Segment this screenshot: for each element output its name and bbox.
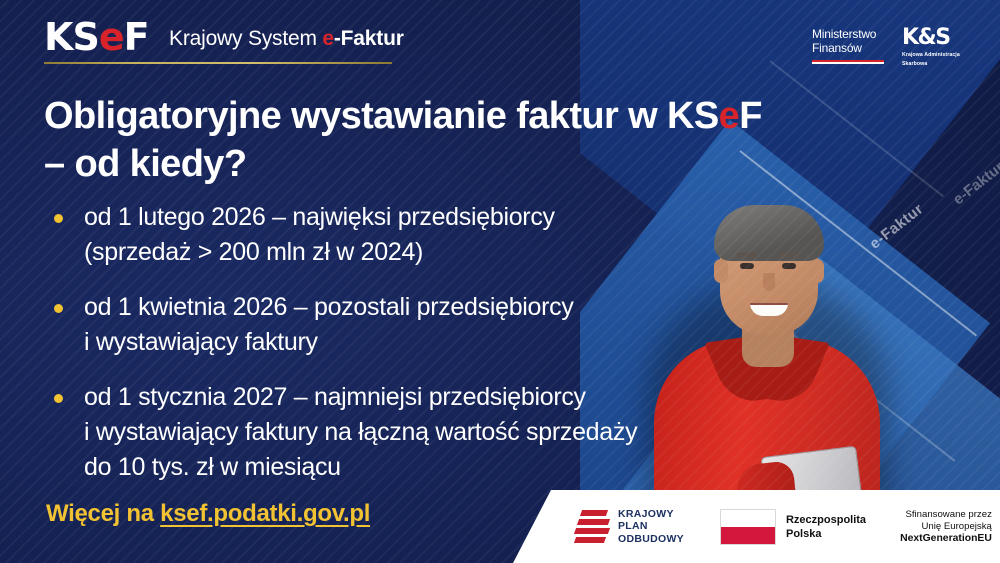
ksef-logo-f: F bbox=[124, 15, 149, 59]
eu-line1: Sfinansowane przez bbox=[900, 509, 992, 521]
watermark-e-faktur-secondary: e-Faktur bbox=[950, 159, 1000, 209]
bullet-dot-icon bbox=[54, 214, 63, 223]
eu-line2: Unię Europejską bbox=[900, 521, 992, 533]
ministry-of-finance-logo: Ministerstwo Finansów bbox=[812, 27, 884, 64]
list-item: od 1 stycznia 2027 – najmniejsi przedsię… bbox=[44, 380, 744, 485]
kpo-line3: ODBUDOWY bbox=[618, 533, 684, 546]
ksef-website-link[interactable]: ksef.podatki.gov.pl bbox=[160, 500, 370, 527]
person-brow-right bbox=[779, 253, 799, 257]
person-ear-right bbox=[810, 259, 824, 283]
eu-line3: NextGenerationEU bbox=[900, 533, 992, 545]
kpo-mark-icon bbox=[575, 508, 609, 546]
ksef-logo-ks: KS bbox=[44, 15, 99, 59]
cta-line: Więcej na ksef.podatki.gov.pl bbox=[46, 500, 370, 528]
headline-part2: F bbox=[739, 95, 762, 137]
bullet-line: od 1 kwietnia 2026 – pozostali przedsięb… bbox=[84, 293, 574, 321]
rp-line2: Polska bbox=[786, 527, 866, 541]
kpo-line2: PLAN bbox=[618, 520, 684, 533]
eu-funding-logo: Sfinansowane przez Unię Europejską NextG… bbox=[900, 508, 1000, 545]
ksef-logo: KSeF bbox=[44, 18, 149, 56]
bullet-line: od 1 lutego 2026 – najwięksi przedsiębio… bbox=[84, 203, 555, 231]
mf-red-bar bbox=[812, 60, 884, 64]
list-item: od 1 lutego 2026 – najwięksi przedsiębio… bbox=[44, 200, 744, 270]
headline-line2: – od kiedy? bbox=[44, 143, 246, 185]
page-title: Obligatoryjne wystawianie faktur w KSeF–… bbox=[44, 92, 874, 188]
headline-accent-e: e bbox=[719, 95, 740, 137]
poster-root: e-Faktur e-Faktur KSeF Krajowy System e-… bbox=[0, 0, 1000, 563]
rp-line1: Rzeczpospolita bbox=[786, 513, 866, 527]
kas-label-line2: Skarbowa bbox=[902, 61, 980, 67]
brand-tagline: Krajowy System e-Faktur bbox=[169, 27, 404, 51]
tagline-part1: Krajowy System bbox=[169, 27, 322, 50]
republic-of-poland-logo: Rzeczpospolita Polska bbox=[720, 509, 866, 545]
poland-flag-icon bbox=[720, 509, 776, 545]
headline-part1: Obligatoryjne wystawianie faktur w KS bbox=[44, 95, 719, 137]
bullet-dot-icon bbox=[54, 394, 63, 403]
bullet-line: (sprzedaż > 200 mln zł w 2024) bbox=[84, 238, 423, 266]
kas-logo: K&S Krajowa Administracja Skarbowa bbox=[902, 27, 980, 68]
kpo-logo: KRAJOWY PLAN ODBUDOWY bbox=[575, 508, 684, 546]
kpo-label: KRAJOWY PLAN ODBUDOWY bbox=[618, 508, 684, 546]
brand-divider bbox=[44, 62, 392, 64]
bullet-list: od 1 lutego 2026 – najwięksi przedsiębio… bbox=[44, 200, 744, 505]
rp-label: Rzeczpospolita Polska bbox=[786, 513, 866, 541]
eu-label: Sfinansowane przez Unię Europejską NextG… bbox=[900, 509, 992, 545]
cta-prefix: Więcej na bbox=[46, 500, 160, 527]
kpo-line1: KRAJOWY bbox=[618, 508, 684, 521]
bullet-line: i wystawiający faktury bbox=[84, 328, 318, 356]
tagline-accent-e: e bbox=[322, 27, 333, 50]
kas-label-line1: Krajowa Administracja bbox=[902, 52, 980, 58]
list-item: od 1 kwietnia 2026 – pozostali przedsięb… bbox=[44, 290, 744, 360]
mf-line1: Ministerstwo bbox=[812, 27, 884, 41]
brand-header: KSeF Krajowy System e-Faktur bbox=[44, 18, 404, 56]
person-eye-right bbox=[782, 263, 796, 269]
person-nose bbox=[763, 273, 775, 291]
ksef-logo-e: e bbox=[99, 15, 124, 59]
bullet-dot-icon bbox=[54, 304, 63, 313]
kas-monogram: K&S bbox=[902, 27, 980, 49]
mf-line2: Finansów bbox=[812, 41, 884, 55]
bullet-line: do 10 tys. zł w miesiącu bbox=[84, 453, 341, 481]
footer-bar: KRAJOWY PLAN ODBUDOWY Rzeczpospolita Pol… bbox=[513, 490, 1000, 563]
bullet-line: i wystawiający faktury na łączną wartość… bbox=[84, 418, 637, 446]
bullet-line: od 1 stycznia 2027 – najmniejsi przedsię… bbox=[84, 383, 586, 411]
tagline-part2: -Faktur bbox=[334, 27, 404, 50]
